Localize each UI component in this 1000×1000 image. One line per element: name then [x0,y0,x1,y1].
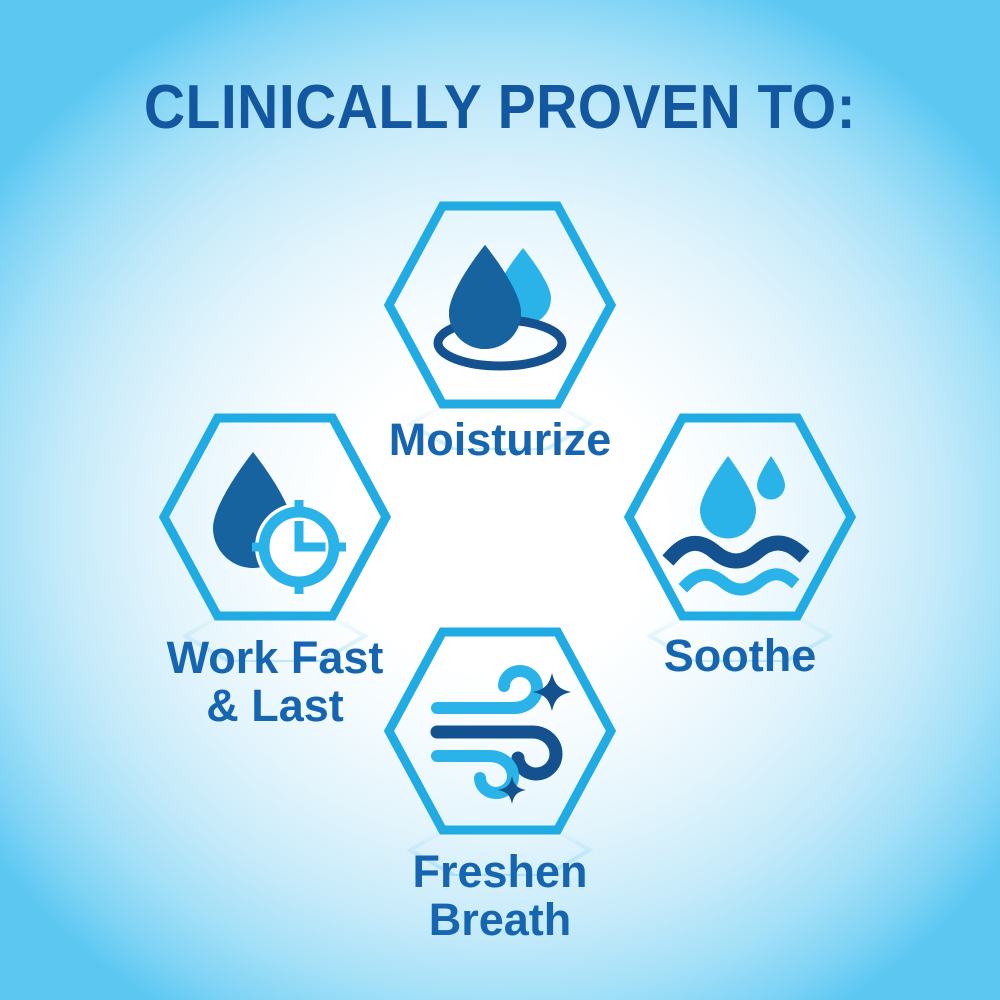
page-title: CLINICALLY PROVEN TO: [40,72,960,143]
benefit-hexagon-work-fast-and-last[interactable] [160,414,390,620]
wind-line-top-icon [437,671,537,708]
clock-tick-12 [295,500,304,515]
wave-line-light-icon [687,574,791,589]
poster-canvas: CLINICALLY PROVEN TO: Moisturize [0,0,1000,1000]
clock-tick-6 [295,579,304,594]
benefit-hexagon-moisturize[interactable] [385,202,615,408]
clock-tick-3 [331,543,346,552]
water-droplet-icon [700,456,756,539]
small-water-droplet-icon [757,456,785,500]
wave-line-dark-icon [673,543,799,561]
clock-hand-minute [295,543,326,552]
benefit-label-freshen-breath: Freshen Breath [310,848,690,943]
sparkle-bottom-left-icon [498,776,526,804]
benefit-hexagon-freshen-breath[interactable] [385,628,615,834]
clock-tick-9 [252,543,267,552]
benefit-hexagon-soothe[interactable] [625,414,855,620]
wind-line-bottom-icon [437,756,513,793]
